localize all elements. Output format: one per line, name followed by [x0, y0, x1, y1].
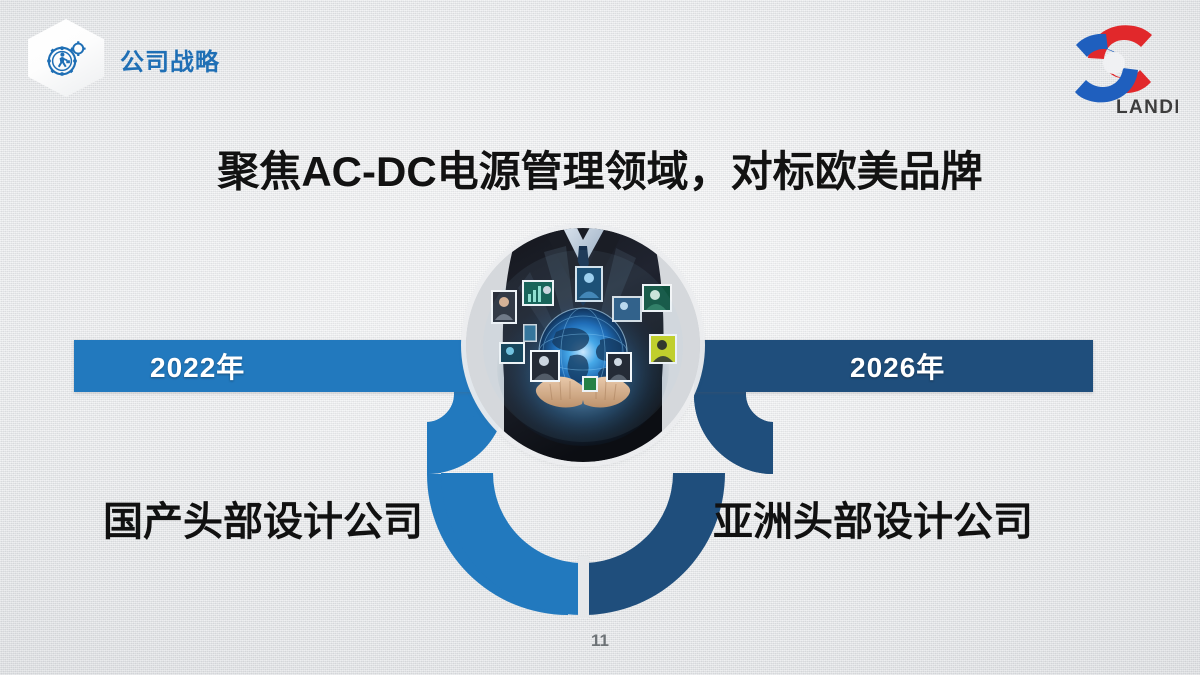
businessman-globe-image [466, 228, 700, 462]
section-badge [28, 19, 104, 97]
caption-right: 亚洲头部设计公司 [713, 489, 1033, 547]
center-photo [466, 228, 700, 462]
section-title: 公司战略 [120, 42, 220, 77]
year-label-right: 2026年 [850, 346, 945, 386]
small-gear-icon [73, 44, 83, 54]
logo-wordmark: LANDP [1116, 97, 1178, 118]
page-title: 聚焦AC-DC电源管理领域，对标欧美品牌 [0, 138, 1200, 199]
year-label-left: 2022年 [150, 346, 245, 386]
caption-left: 国产头部设计公司 [103, 489, 423, 547]
slide: 公司战略 LANDP 聚焦AC-DC电源管理领域，对标欧美品牌 [0, 0, 1200, 675]
logo-mark-icon [1075, 25, 1152, 102]
milestone-banner-2026[interactable]: 2026年 [694, 340, 1093, 392]
landp-logo: LANDP [1050, 14, 1178, 118]
milestone-banner-2022[interactable]: 2022年 [74, 340, 506, 392]
gear-person-icon [43, 37, 89, 79]
page-number: 11 [0, 631, 1200, 651]
